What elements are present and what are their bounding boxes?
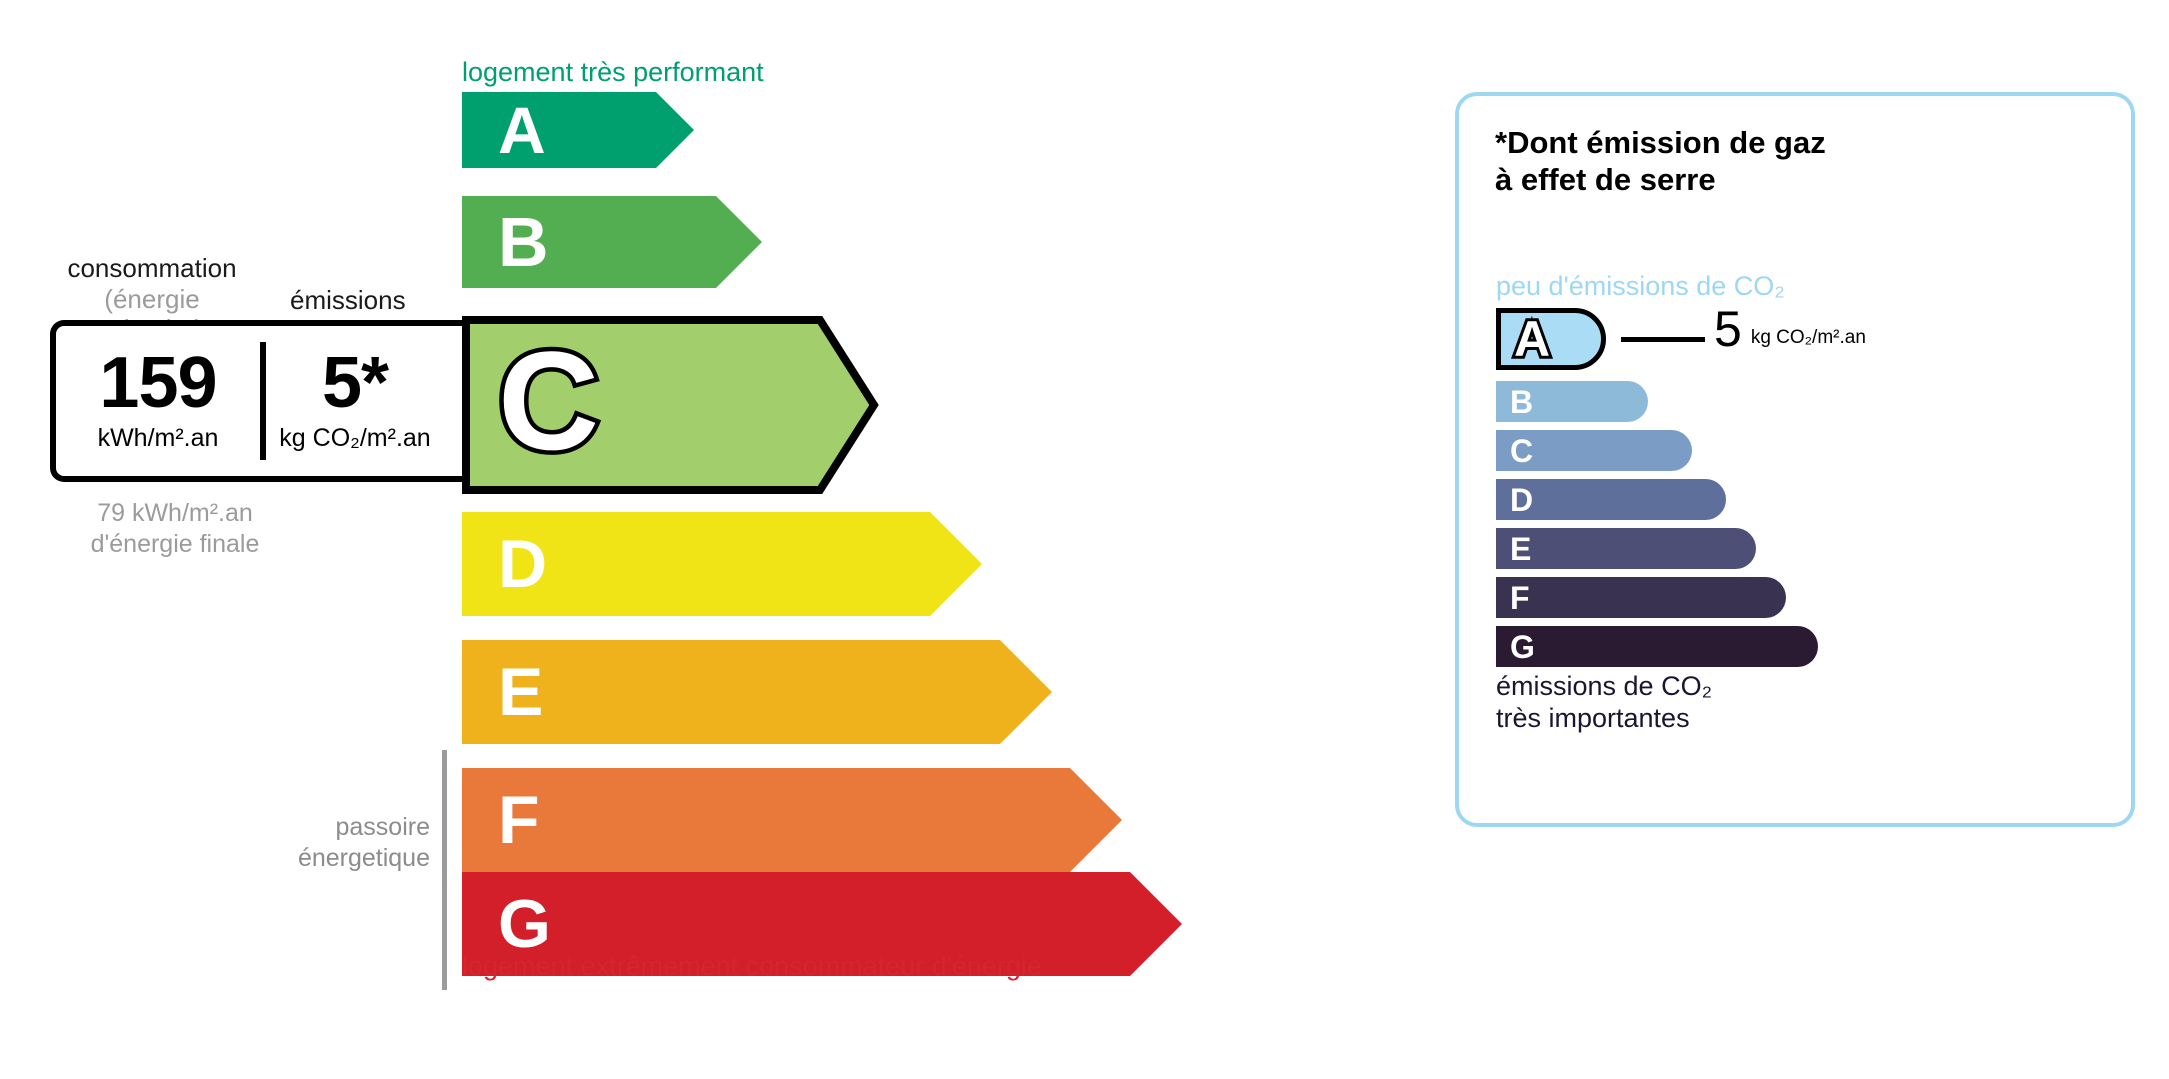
co2-bottom-caption: émissions de CO₂ très importantes	[1496, 670, 1712, 735]
energy-band-b[interactable]: B	[462, 196, 762, 288]
passoire-note-line1: passoire	[230, 812, 430, 843]
passoire-divider-rule	[442, 750, 447, 990]
emissions-label: émissions	[290, 285, 406, 316]
co2-band-b[interactable]: B	[1496, 381, 1648, 422]
final-energy-line1: 79 kWh/m².an	[60, 498, 290, 529]
primary-energy-cell: 159 kWh/m².an	[56, 326, 260, 476]
primary-energy-unit: kWh/m².an	[98, 424, 219, 453]
scale-top-caption: logement très performant	[462, 57, 764, 88]
co2-emissions-unit: kg CO₂/m².an	[279, 424, 430, 453]
co2-selected-value-group: 5 kg CO₂/m².an	[1714, 304, 1866, 354]
energy-performance-scale: logement très performant A B C D E	[0, 0, 1400, 1079]
co2-band-letter: G	[1510, 631, 1535, 663]
co2-emissions-panel: *Dont émission de gaz à effet de serre p…	[1455, 92, 2135, 827]
energy-band-letter: E	[498, 658, 543, 726]
band-arrow-shape	[462, 768, 1122, 872]
co2-leader-line	[1621, 337, 1705, 342]
co2-panel-title: *Dont émission de gaz à effet de serre	[1495, 124, 1826, 198]
co2-band-f[interactable]: F	[1496, 577, 1786, 618]
energy-band-letter: C	[498, 331, 599, 471]
final-energy-line2: d'énergie finale	[60, 529, 290, 560]
measurement-value-box: 159 kWh/m².an 5* kg CO₂/m².an	[50, 320, 462, 482]
primary-energy-value: 159	[99, 349, 216, 417]
co2-band-letter: A	[1514, 314, 1550, 364]
energy-band-letter: F	[498, 786, 540, 854]
consommation-label-main: consommation	[50, 253, 254, 284]
energy-band-letter: B	[498, 207, 549, 277]
energy-band-letter: A	[498, 97, 546, 163]
co2-band-e[interactable]: E	[1496, 528, 1756, 569]
co2-selected-value: 5	[1714, 304, 1742, 354]
co2-bottom-caption-line2: très importantes	[1496, 702, 1712, 734]
energy-band-c-selected[interactable]: C	[462, 316, 874, 486]
energy-band-a[interactable]: A	[462, 92, 694, 168]
energy-band-letter: G	[498, 890, 551, 958]
final-energy-note: 79 kWh/m².an d'énergie finale	[60, 498, 290, 559]
energy-band-letter: D	[498, 530, 547, 598]
co2-band-letter: C	[1510, 435, 1533, 467]
passoire-note-line2: énergetique	[230, 843, 430, 874]
co2-band-g[interactable]: G	[1496, 626, 1818, 667]
co2-emissions-cell: 5* kg CO₂/m².an	[260, 326, 450, 476]
passoire-energetique-note: passoire énergetique	[230, 812, 430, 873]
co2-selected-unit: kg CO₂/m².an	[1751, 327, 1866, 349]
co2-emissions-value: 5*	[322, 349, 388, 417]
co2-band-letter: E	[1510, 533, 1531, 565]
co2-band-letter: B	[1510, 386, 1533, 418]
co2-bottom-caption-line1: émissions de CO₂	[1496, 670, 1712, 702]
band-arrow-shape	[462, 640, 1052, 744]
co2-band-letter: F	[1510, 582, 1530, 614]
energy-band-d[interactable]: D	[462, 512, 982, 616]
co2-panel-title-line2: à effet de serre	[1495, 161, 1826, 198]
energy-band-f[interactable]: F	[462, 768, 1122, 872]
co2-band-a-selected[interactable]: A	[1496, 308, 1606, 370]
energy-band-e[interactable]: E	[462, 640, 1052, 744]
co2-band-d[interactable]: D	[1496, 479, 1726, 520]
co2-band-c[interactable]: C	[1496, 430, 1692, 471]
co2-top-caption: peu d'émissions de CO₂	[1496, 271, 1785, 302]
co2-band-letter: D	[1510, 484, 1533, 516]
band-arrow-shape	[462, 92, 694, 168]
co2-panel-title-line1: *Dont émission de gaz	[1495, 124, 1826, 161]
